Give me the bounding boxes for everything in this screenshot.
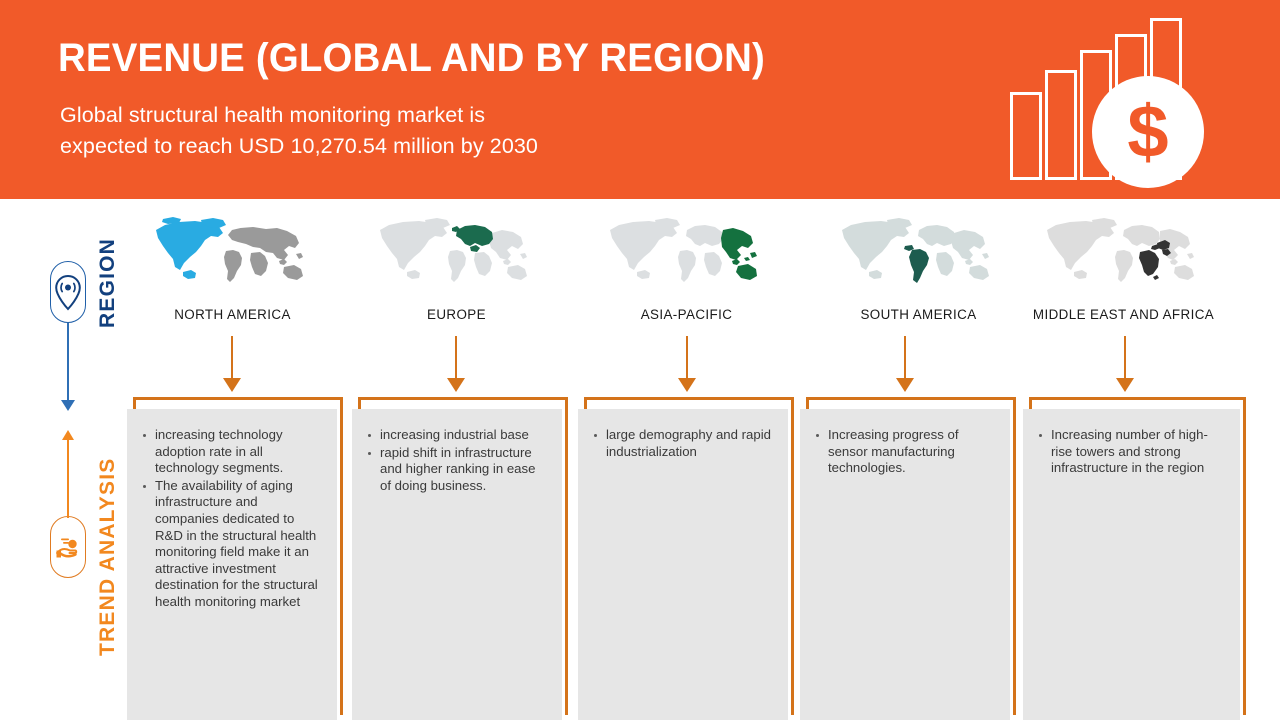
region-pin-badge [50,261,86,323]
list-item: large demography and rapid industrializa… [592,427,776,460]
arrow-line-middle-east-africa [1124,336,1126,380]
map-svg [607,215,767,295]
trend-box-north-america: increasing technology adoption rate in a… [127,409,337,720]
region-label: SOUTH AMERICA [818,307,1019,322]
region-label: MIDDLE EAST AND AFRICA [1023,307,1224,322]
map-svg [153,215,313,295]
header-banner: REVENUE (GLOBAL AND BY REGION) Global st… [0,0,1280,199]
trend-box-south-america: Increasing progress of sensor manufactur… [800,409,1010,720]
dollar-sign-icon: $ [1092,76,1204,188]
world-map-north-america [153,215,313,295]
arrow-line-asia-pacific [686,336,688,380]
world-map-south-america [839,215,999,295]
trend-arrow-head [62,430,74,440]
bullet-list: large demography and rapid industrializa… [592,427,776,460]
trend-connector-line [67,440,69,518]
revenue-chart-icon: $ [1000,14,1200,189]
arrow-line-north-america [231,336,233,380]
list-item: increasing industrial base [366,427,550,444]
region-label: EUROPE [356,307,557,322]
arrow-line-europe [455,336,457,380]
world-map-middle-east-africa [1044,215,1204,295]
region-label: ASIA-PACIFIC [586,307,787,322]
region-column-asia-pacific: ASIA-PACIFIC [586,215,787,322]
map-svg [1044,215,1204,295]
location-pin-icon [51,262,85,322]
bullet-list: Increasing number of high-rise towers an… [1037,427,1228,477]
region-column-middle-east-africa: MIDDLE EAST AND AFRICA [1023,215,1224,322]
bullet-list: Increasing progress of sensor manufactur… [814,427,998,477]
list-item: The availability of aging infrastructure… [141,478,325,611]
region-column-europe: EUROPE [356,215,557,322]
header-subtitle: Global structural health monitoring mark… [60,100,538,162]
list-item: Increasing progress of sensor manufactur… [814,427,998,477]
trend-box-asia-pacific: large demography and rapid industrializa… [578,409,788,720]
arrow-head-europe [447,378,465,392]
trend-box-europe: increasing industrial base rapid shift i… [352,409,562,720]
trend-box-middle-east-africa: Increasing number of high-rise towers an… [1023,409,1240,720]
header-bar-1 [1010,92,1042,180]
list-item: increasing technology adoption rate in a… [141,427,325,477]
hand-holding-coin-icon [51,517,85,577]
region-arrow-head [61,400,75,411]
world-map-asia-pacific [607,215,767,295]
bullet-list: increasing technology adoption rate in a… [141,427,325,611]
arrow-head-middle-east-africa [1116,378,1134,392]
map-svg [839,215,999,295]
region-connector-line [67,323,69,403]
region-rail-label: REGION [96,232,120,328]
infographic-page: REVENUE (GLOBAL AND BY REGION) Global st… [0,0,1280,720]
world-map-europe [377,215,537,295]
trend-analysis-badge [50,516,86,578]
region-label: NORTH AMERICA [132,307,333,322]
list-item: rapid shift in infrastructure and higher… [366,445,550,495]
trend-rail-label: TREND ANALYSIS [96,424,120,656]
list-item: Increasing number of high-rise towers an… [1037,427,1228,477]
region-column-south-america: SOUTH AMERICA [818,215,1019,322]
arrow-head-south-america [896,378,914,392]
arrow-line-south-america [904,336,906,380]
bullet-list: increasing industrial base rapid shift i… [366,427,550,494]
arrow-head-asia-pacific [678,378,696,392]
page-title: REVENUE (GLOBAL AND BY REGION) [58,36,765,81]
map-svg [377,215,537,295]
arrow-head-north-america [223,378,241,392]
region-column-north-america: NORTH AMERICA [132,215,333,322]
header-bar-2 [1045,70,1077,180]
